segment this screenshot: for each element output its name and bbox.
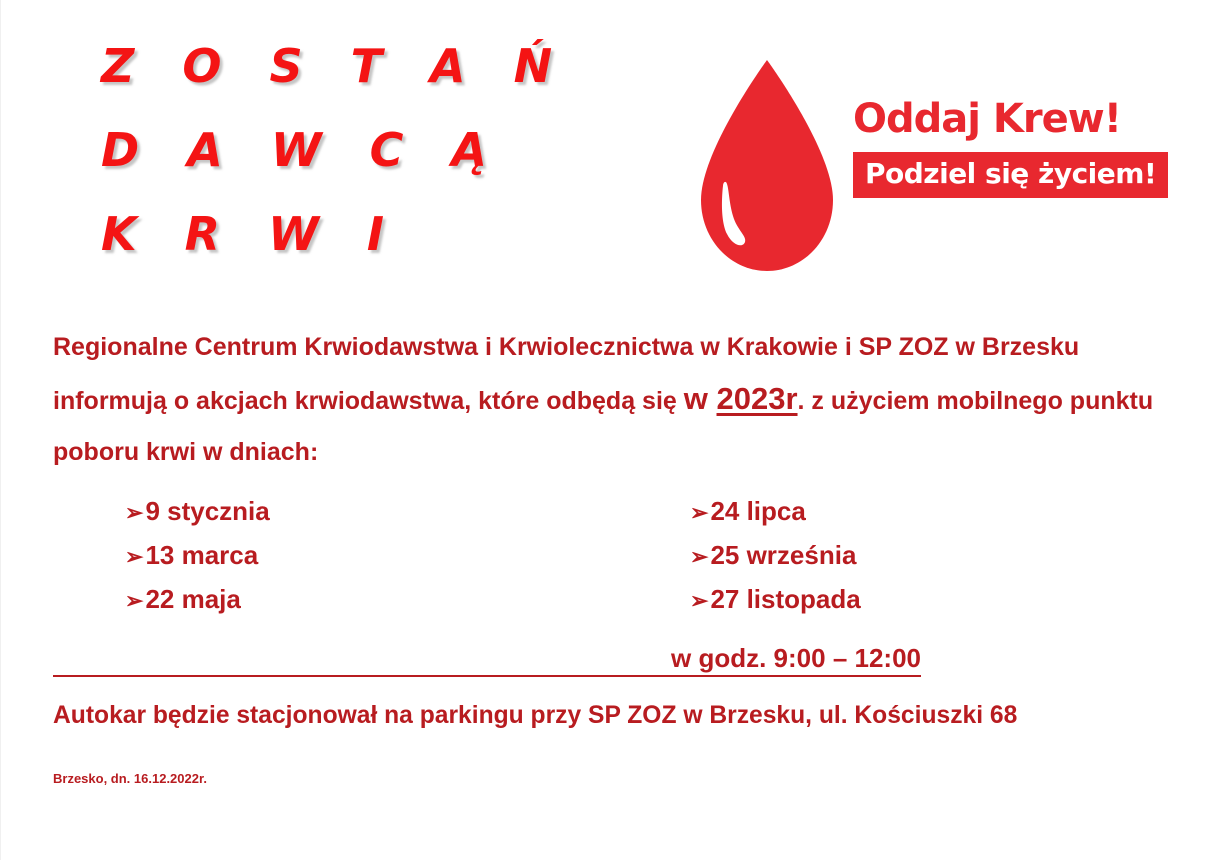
dates-column-left: ➢ 9 stycznia ➢ 13 marca ➢ 22 maja bbox=[125, 490, 560, 622]
hours-row: w godz. 9:00 – 12:00 bbox=[53, 641, 921, 677]
campaign-logo: Oddaj Krew! Podziel się życiem! bbox=[693, 58, 1123, 278]
arrow-bullet-icon: ➢ bbox=[125, 492, 143, 534]
logo-title: Oddaj Krew! bbox=[853, 96, 1123, 142]
date-label: 24 lipca bbox=[710, 490, 805, 532]
date-label: 9 stycznia bbox=[145, 490, 269, 532]
hours-label: w godz. 9:00 – 12:00 bbox=[671, 643, 921, 673]
list-item: ➢ 24 lipca bbox=[690, 490, 1125, 534]
headline-line-2: D A W C Ą bbox=[101, 108, 661, 192]
announcement-year: 2023r bbox=[717, 381, 798, 416]
arrow-bullet-icon: ➢ bbox=[690, 536, 708, 578]
date-label: 27 listopada bbox=[710, 578, 860, 620]
list-item: ➢ 9 stycznia bbox=[125, 490, 560, 534]
document-footer: Brzesko, dn. 16.12.2022r. bbox=[53, 770, 207, 788]
dates-column-right: ➢ 24 lipca ➢ 25 września ➢ 27 listopada bbox=[690, 490, 1125, 622]
announcement-w: w bbox=[684, 381, 708, 416]
headline-line-1: Z O S T A Ń bbox=[101, 24, 661, 108]
list-item: ➢ 25 września bbox=[690, 534, 1125, 578]
list-item: ➢ 27 listopada bbox=[690, 578, 1125, 622]
date-label: 22 maja bbox=[145, 578, 240, 620]
poster-canvas: Z O S T A Ń D A W C Ą K R W I Oddaj Krew… bbox=[0, 0, 1216, 860]
logo-subtitle: Podziel się życiem! bbox=[865, 158, 1156, 190]
arrow-bullet-icon: ➢ bbox=[690, 580, 708, 622]
logo-text-block: Oddaj Krew! Podziel się życiem! bbox=[853, 96, 1123, 198]
blood-drop-icon bbox=[693, 58, 841, 273]
page-title: Z O S T A Ń D A W C Ą K R W I bbox=[101, 24, 661, 276]
address-line: Autokar będzie stacjonował na parkingu p… bbox=[53, 698, 1156, 732]
arrow-bullet-icon: ➢ bbox=[125, 580, 143, 622]
logo-subtitle-bar: Podziel się życiem! bbox=[853, 152, 1168, 198]
list-item: ➢ 13 marca bbox=[125, 534, 560, 578]
list-item: ➢ 22 maja bbox=[125, 578, 560, 622]
dates-list: ➢ 9 stycznia ➢ 13 marca ➢ 22 maja ➢ 24 l… bbox=[125, 490, 1125, 622]
arrow-bullet-icon: ➢ bbox=[125, 536, 143, 578]
arrow-bullet-icon: ➢ bbox=[690, 492, 708, 534]
announcement-paragraph: Regionalne Centrum Krwiodawstwa i Krwiol… bbox=[53, 322, 1183, 478]
date-label: 25 września bbox=[710, 534, 856, 576]
date-label: 13 marca bbox=[145, 534, 258, 576]
headline-line-3: K R W I bbox=[101, 192, 661, 276]
